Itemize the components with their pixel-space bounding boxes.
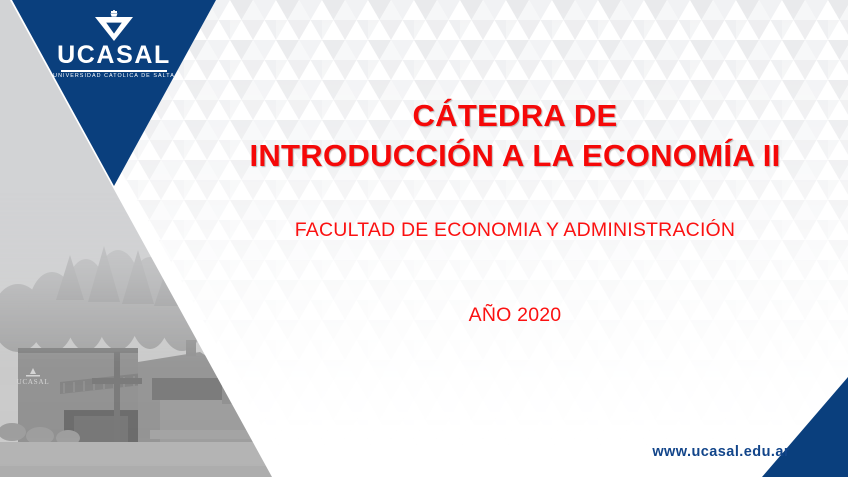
logo-divider-rule (61, 70, 167, 72)
corner-wedge-shape (758, 377, 848, 477)
title-line-2: INTRODUCCIÓN A LA ECONOMÍA II (215, 136, 815, 176)
year-label: AÑO 2020 (215, 304, 815, 327)
page-title: CÁTEDRA DE INTRODUCCIÓN A LA ECONOMÍA II (215, 96, 815, 177)
ucasal-logo: UCASAL UNIVERSIDAD CATOLICA DE SALTA (48, 10, 180, 80)
ucasal-shield-emblem (90, 10, 138, 42)
logo-tagline: UNIVERSIDAD CATOLICA DE SALTA (48, 74, 180, 79)
faculty-subtitle: FACULTAD DE ECONOMIA Y ADMINISTRACIÓN (215, 219, 815, 242)
website-url[interactable]: www.ucasal.edu.ar (652, 444, 790, 460)
presentation-slide: UCASAL (0, 0, 848, 477)
title-line-1: CÁTEDRA DE (215, 96, 815, 136)
svg-text:UCASAL: UCASAL (17, 378, 50, 386)
logo-wordmark: UCASAL (48, 43, 180, 68)
